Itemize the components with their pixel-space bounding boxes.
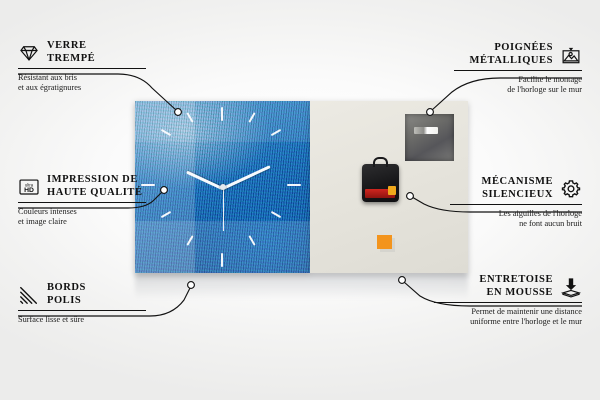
quartz-mechanism bbox=[362, 164, 399, 202]
product-image bbox=[135, 101, 468, 273]
diamond-icon bbox=[18, 42, 40, 64]
ultra-hd-icon: ultra HD bbox=[18, 176, 40, 198]
clock-second-hand bbox=[223, 187, 224, 231]
feature-title: ENTRETOISE EN MOUSSE bbox=[479, 274, 553, 299]
infographic-canvas: VERRE TREMPÉ Résistant aux bris et aux é… bbox=[0, 0, 600, 400]
mechanism-hanging-loop bbox=[373, 157, 388, 167]
clock-hub bbox=[220, 184, 226, 190]
feature-description: Résistant aux bris et aux égratignures bbox=[18, 73, 146, 94]
clock-minute-hand bbox=[222, 165, 271, 190]
divider bbox=[18, 202, 146, 203]
feature-impression-haute-qualite: ultra HD IMPRESSION DE HAUTE QUALITÉ Cou… bbox=[18, 174, 146, 228]
gear-icon bbox=[560, 178, 582, 200]
picture-frame-icon bbox=[560, 44, 582, 66]
divider bbox=[18, 68, 146, 69]
feature-title: POIGNÉES MÉTALLIQUES bbox=[470, 42, 553, 67]
foam-spacer-icon bbox=[560, 276, 582, 298]
feature-description: Facilite le montage de l'horloge sur le … bbox=[454, 75, 582, 96]
clock-hour-hand bbox=[186, 170, 224, 190]
divider bbox=[434, 302, 582, 303]
foam-spacer-part bbox=[377, 235, 392, 249]
feature-description: Permet de maintenir une distance uniform… bbox=[434, 307, 582, 328]
feature-title: BORDS POLIS bbox=[47, 282, 86, 307]
feature-poignees-metalliques: POIGNÉES MÉTALLIQUES Facilite le montage… bbox=[454, 42, 582, 96]
feature-description: Couleurs intenses et image claire bbox=[18, 207, 146, 228]
polished-edge-icon bbox=[18, 284, 40, 306]
feature-description: Les aiguilles de l'horloge ne font aucun… bbox=[450, 209, 582, 230]
product-reflection bbox=[135, 273, 468, 299]
feature-verre-trempe: VERRE TREMPÉ Résistant aux bris et aux é… bbox=[18, 40, 146, 94]
feature-bords-polis: BORDS POLIS Surface lisse et sûre bbox=[18, 282, 146, 325]
divider bbox=[454, 70, 582, 71]
divider bbox=[450, 204, 582, 205]
feature-mecanisme-silencieux: MÉCANISME SILENCIEUX Les aiguilles de l'… bbox=[450, 176, 582, 230]
divider bbox=[18, 310, 146, 311]
clock-back-panel bbox=[310, 101, 468, 273]
feature-entretoise-en-mousse: ENTRETOISE EN MOUSSE Permet de maintenir… bbox=[434, 274, 582, 328]
battery-plus-terminal bbox=[388, 186, 396, 195]
metal-hanger-plate bbox=[405, 114, 454, 161]
battery bbox=[365, 189, 395, 198]
feature-title: MÉCANISME SILENCIEUX bbox=[482, 176, 553, 201]
clock-face-panel bbox=[135, 101, 310, 273]
feature-title: VERRE TREMPÉ bbox=[47, 40, 95, 65]
svg-text:HD: HD bbox=[24, 187, 34, 194]
feature-description: Surface lisse et sûre bbox=[18, 315, 146, 326]
hanger-slot bbox=[414, 127, 438, 134]
feature-title: IMPRESSION DE HAUTE QUALITÉ bbox=[47, 174, 143, 199]
